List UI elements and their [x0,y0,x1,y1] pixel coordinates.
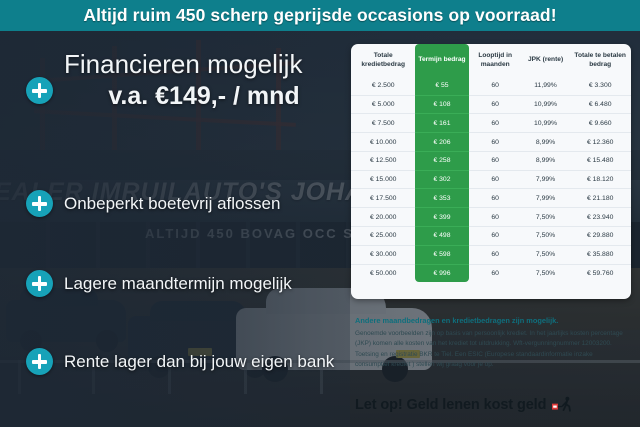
cell-looptijd: 60 [469,114,522,133]
cell-totaal: € 3.300 [569,77,631,95]
table-row: € 10.000€ 206608,99%€ 12.360 [351,133,631,152]
cell-looptijd: 60 [469,133,522,152]
legal-warning-text: Let op! Geld lenen kost geld [355,397,546,413]
top-banner-text: Altijd ruim 450 scherp geprijsde occasio… [83,5,556,26]
cell-termijn: € 161 [415,114,468,133]
cell-looptijd: 60 [469,151,522,170]
cell-looptijd: 60 [469,264,522,282]
cell-termijn: € 996 [415,264,468,282]
cell-looptijd: 60 [469,208,522,227]
cell-looptijd: 60 [469,77,522,95]
cell-jkp: 7,99% [522,189,570,208]
left-content-column: Financieren mogelijk v.a. €149,- / mnd O… [0,31,348,427]
benefit-item-2: Lagere maandtermijn mogelijk [64,274,292,294]
cell-jkp: 11,99% [522,77,570,95]
table-row: € 50.000€ 996607,50%€ 59.760 [351,264,631,282]
cell-krediet: € 12.500 [351,151,415,170]
cell-totaal: € 6.480 [569,95,631,114]
table-row: € 2.500€ 556011,99%€ 3.300 [351,77,631,95]
fineprint-heading: Andere maandbedragen en kredietbedragen … [355,316,627,325]
fineprint-body: Genoemde voorbeelden zijn op basis van p… [355,329,627,371]
benefit-item-3: Rente lager dan bij jouw eigen bank [64,352,334,372]
cell-jkp: 7,50% [522,245,570,264]
advertisement-banner: EALER IMRUILAUTO'S JOHAN MEURE ALTIJD 45… [0,0,640,427]
cell-looptijd: 60 [469,189,522,208]
table-row: € 17.500€ 353607,99%€ 21.180 [351,189,631,208]
cell-termijn: € 108 [415,95,468,114]
afm-walking-man-icon [552,396,574,413]
cell-jkp: 7,99% [522,170,570,189]
cell-termijn: € 498 [415,227,468,246]
table-row: € 12.500€ 258608,99%€ 15.480 [351,151,631,170]
cell-jkp: 8,99% [522,133,570,152]
plus-icon [26,270,53,297]
headline-line-1: Financieren mogelijk [64,51,344,78]
cell-looptijd: 60 [469,170,522,189]
cell-termijn: € 399 [415,208,468,227]
cell-totaal: € 9.660 [569,114,631,133]
cell-krediet: € 10.000 [351,133,415,152]
fineprint-block: Andere maandbedragen en kredietbedragen … [355,316,627,371]
headline-line-2: v.a. €149,- / mnd [64,82,344,111]
table-row: € 30.000€ 598607,50%€ 35.880 [351,245,631,264]
cell-totaal: € 29.880 [569,227,631,246]
table-row: € 5.000€ 1086010,99%€ 6.480 [351,95,631,114]
table-row: € 15.000€ 302607,99%€ 18.120 [351,170,631,189]
cell-totaal: € 23.940 [569,208,631,227]
cell-jkp: 10,99% [522,114,570,133]
financing-rates-table: Totale kredietbedrag Termijn bedrag Loop… [351,44,631,282]
cell-termijn: € 55 [415,77,468,95]
table-row: € 7.500€ 1616010,99%€ 9.660 [351,114,631,133]
cell-krediet: € 7.500 [351,114,415,133]
cell-totaal: € 18.120 [569,170,631,189]
plus-icon [26,190,53,217]
cell-termijn: € 598 [415,245,468,264]
column-header-krediet: Totale kredietbedrag [351,44,415,77]
cell-krediet: € 17.500 [351,189,415,208]
cell-krediet: € 5.000 [351,95,415,114]
headline: Financieren mogelijk v.a. €149,- / mnd [64,51,344,111]
cell-jkp: 10,99% [522,95,570,114]
cell-krediet: € 30.000 [351,245,415,264]
plus-icon [26,348,53,375]
table-row: € 25.000€ 498607,50%€ 29.880 [351,227,631,246]
cell-totaal: € 12.360 [569,133,631,152]
column-header-looptijd: Looptijd in maanden [469,44,522,77]
top-banner: Altijd ruim 450 scherp geprijsde occasio… [0,0,640,31]
cell-totaal: € 59.760 [569,264,631,282]
cell-krediet: € 50.000 [351,264,415,282]
cell-jkp: 7,50% [522,208,570,227]
plus-icon [26,77,53,104]
cell-totaal: € 21.180 [569,189,631,208]
cell-krediet: € 15.000 [351,170,415,189]
column-header-totaal: Totale te betalen bedrag [569,44,631,77]
cell-krediet: € 25.000 [351,227,415,246]
cell-termijn: € 258 [415,151,468,170]
cell-jkp: 7,50% [522,264,570,282]
cell-krediet: € 20.000 [351,208,415,227]
column-header-termijn: Termijn bedrag [415,44,468,77]
cell-looptijd: 60 [469,245,522,264]
table-header-row: Totale kredietbedrag Termijn bedrag Loop… [351,44,631,77]
cell-krediet: € 2.500 [351,77,415,95]
table-row: € 20.000€ 399607,50%€ 23.940 [351,208,631,227]
benefit-item-1: Onbeperkt boetevrij aflossen [64,194,280,214]
cell-jkp: 7,50% [522,227,570,246]
cell-totaal: € 35.880 [569,245,631,264]
cell-looptijd: 60 [469,227,522,246]
legal-warning: Let op! Geld lenen kost geld [355,396,627,413]
cell-termijn: € 302 [415,170,468,189]
rates-card: Totale kredietbedrag Termijn bedrag Loop… [351,44,631,299]
cell-jkp: 8,99% [522,151,570,170]
cell-totaal: € 15.480 [569,151,631,170]
cell-termijn: € 206 [415,133,468,152]
column-header-jkp: JPK (rente) [522,44,570,77]
cell-termijn: € 353 [415,189,468,208]
cell-looptijd: 60 [469,95,522,114]
